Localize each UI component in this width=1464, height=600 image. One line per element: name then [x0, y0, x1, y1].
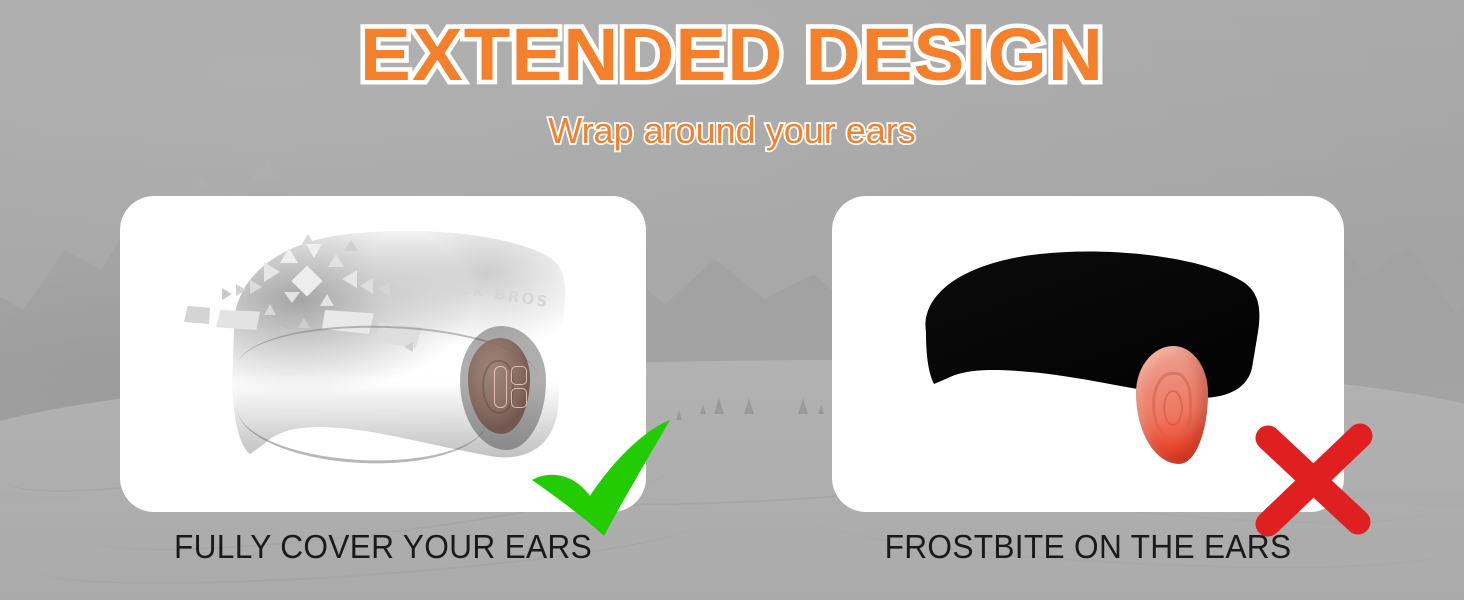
plain-band-illustration	[890, 236, 1290, 476]
pattern-triangle	[302, 234, 314, 244]
red-cross-icon	[1248, 420, 1378, 540]
green-check-icon	[528, 418, 676, 540]
pattern-shard	[216, 310, 260, 330]
banner-title: EXTENDED DESIGN	[0, 16, 1464, 94]
banner-subtitle: Wrap around your ears	[0, 110, 1464, 152]
ear-exposed-frostbitten	[1136, 346, 1208, 464]
caption-incorrect: FROSTBITE ON THE EARS	[842, 528, 1334, 566]
pattern-triangle	[328, 254, 344, 267]
pattern-triangle	[264, 262, 280, 282]
pattern-triangle	[306, 244, 322, 258]
ear-pocket-graphic	[494, 366, 528, 408]
pattern-triangle	[280, 248, 298, 263]
pattern-triangle	[284, 292, 300, 303]
plain-band-body	[890, 236, 1290, 476]
product-feature-banner: EXTENDED DESIGN Wrap around your ears	[0, 0, 1464, 600]
pattern-triangle	[236, 284, 246, 296]
caption-correct: FULLY COVER YOUR EARS	[131, 528, 636, 566]
pattern-triangle	[250, 280, 262, 294]
pattern-triangle	[344, 240, 358, 251]
pattern-shard	[184, 306, 210, 324]
pattern-triangle	[342, 270, 357, 288]
pattern-triangle	[320, 294, 334, 306]
pattern-triangle	[222, 288, 232, 300]
ear-pocket-bar	[494, 366, 507, 408]
ear-pocket-bar	[511, 388, 527, 408]
ear-pocket-bar	[511, 366, 527, 385]
pattern-triangle	[360, 278, 373, 294]
pattern-triangle	[264, 304, 276, 315]
pattern-triangle	[298, 318, 310, 328]
pattern-triangle	[378, 282, 390, 296]
